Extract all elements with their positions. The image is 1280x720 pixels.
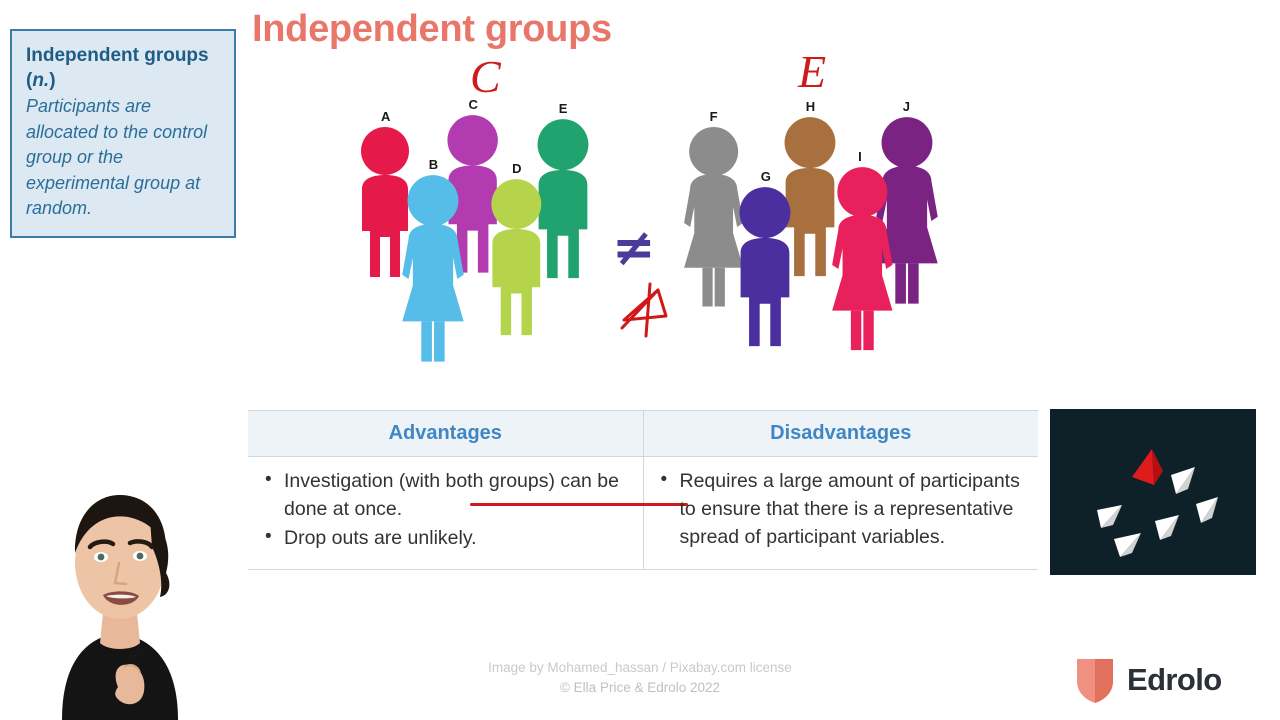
person-label-e: E: [559, 101, 568, 116]
advantages-disadvantages-table: Advantages Disadvantages Investigation (…: [248, 410, 1038, 570]
follower-plane-icon-1: [1171, 467, 1195, 494]
shield-icon: [1074, 655, 1116, 705]
presenter-hand: [115, 665, 144, 704]
video-thumbnail-panel[interactable]: [1050, 409, 1256, 575]
edrolo-wordmark: Edrolo: [1127, 662, 1222, 698]
follower-plane-icon-5: [1114, 533, 1141, 557]
page-title: Independent groups: [252, 8, 612, 51]
table-header-disadvantages: Disadvantages: [643, 411, 1038, 457]
person-figure-j: [876, 117, 937, 304]
definition-part-of-speech: n.: [32, 70, 49, 91]
person-figure-b: [402, 175, 463, 362]
lead-plane-icon: [1132, 449, 1163, 485]
person-label-f: F: [710, 109, 718, 124]
annotation-experimental-letter: E: [798, 45, 826, 98]
person-figure-g: [740, 187, 791, 346]
person-figure-a: [361, 127, 409, 277]
person-label-d: D: [512, 161, 521, 176]
follower-plane-icon-4: [1155, 515, 1179, 540]
person-label-b: B: [429, 157, 438, 172]
person-label-j: J: [903, 99, 910, 114]
person-label-c: C: [468, 97, 477, 112]
list-item: Investigation (with both groups) can be …: [258, 467, 629, 523]
definition-description: Participants are allocated to the contro…: [26, 94, 220, 222]
not-equal-icon: ≠: [612, 222, 656, 274]
advantages-list: Investigation (with both groups) can be …: [258, 467, 629, 552]
disadvantages-list: Requires a large amount of participants …: [654, 467, 1025, 551]
red-arrow-annotation: [610, 270, 690, 340]
groups-illustration: C E ABCDEFGHIJ: [320, 55, 1000, 370]
list-item: Requires a large amount of participants …: [654, 467, 1025, 551]
paper-planes-graphic: [1050, 409, 1256, 575]
person-label-h: H: [806, 99, 815, 114]
follower-plane-icon-2: [1196, 497, 1218, 523]
person-label-a: A: [381, 109, 390, 124]
list-item: Drop outs are unlikely.: [258, 524, 629, 552]
table-row: Investigation (with both groups) can be …: [248, 457, 1038, 570]
person-figure-e: [538, 119, 589, 278]
person-figure-h: [785, 117, 836, 276]
table-cell-advantages: Investigation (with both groups) can be …: [248, 457, 643, 570]
person-figure-f: [684, 127, 743, 307]
person-label-i: I: [858, 149, 862, 164]
annotation-control-letter: C: [470, 50, 501, 103]
table-header-advantages: Advantages: [248, 411, 643, 457]
edrolo-logo: Edrolo: [1074, 655, 1222, 705]
presenter-figure: [0, 455, 240, 720]
presenter-video-overlay[interactable]: [0, 455, 240, 720]
definition-box: Independent groups (n.) Participants are…: [10, 29, 236, 238]
presenter-head: [75, 495, 169, 619]
table-header-row: Advantages Disadvantages: [248, 411, 1038, 457]
definition-term-close: ): [49, 70, 55, 91]
definition-term: Independent groups (n.): [26, 43, 220, 93]
slide-canvas: Independent groups (n.) Participants are…: [0, 0, 1280, 720]
follower-plane-icon-3: [1097, 505, 1122, 528]
person-figure-d: [491, 179, 541, 335]
table-cell-disadvantages: Requires a large amount of participants …: [643, 457, 1038, 570]
person-label-g: G: [761, 169, 771, 184]
